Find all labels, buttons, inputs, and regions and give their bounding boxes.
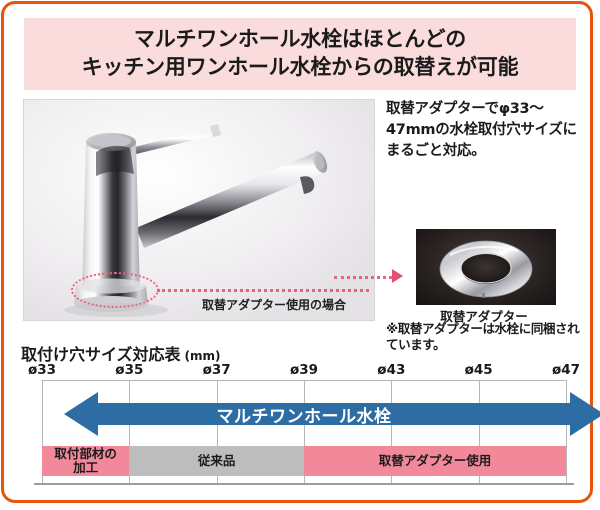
chart-segment-label: 従来品 [198,454,236,468]
adapter-arrow-dots [334,276,392,279]
chart-tick-label-33: ø33 [28,362,56,378]
chart-tick-label-39: ø39 [290,362,318,378]
chart-segment-label: 取替アダプター使用 [379,454,492,468]
adapter-ring-photo [416,229,556,305]
adapter-description: 取替アダプターでφ33〜47mmの水栓取付穴サイズにまるごと対応。 [386,99,582,162]
adapter-ring-illustration [416,229,556,305]
chart-tick-label-45: ø45 [465,362,493,378]
adapter-lead-line [157,289,369,292]
chart-segment-2: 取替アダプター使用 [304,446,566,476]
adapter-highlight-ellipse [71,272,159,308]
orange-panel-frame: マルチワンホール水栓はほとんどの キッチン用ワンホール水栓からの取替えが可能 [1,1,593,503]
title-line-2: キッチン用ワンホール水栓からの取替えが可能 [82,54,519,82]
chart-tick-label-35: ø35 [115,362,143,378]
chart-segment-label: 取付部材の加工 [54,447,117,476]
chart-unit-label: (mm) [185,349,221,363]
multi-onehole-range-arrow [64,390,600,438]
hole-size-chart: ø33ø35ø37ø39ø43ø45ø47 マルチワンホール水栓 取付部材の加工… [4,362,598,502]
chart-segment-0: 取付部材の加工 [42,446,129,476]
adapter-bundled-note: ※取替アダプターは水栓に同梱されています。 [386,321,586,352]
faucet-photo: 取替アダプター使用の場合 [23,99,375,321]
title-line-1: マルチワンホール水栓はほとんどの [134,26,466,54]
faucet-photo-caption: 取替アダプター使用の場合 [202,296,346,313]
chart-axis-bottom [34,483,574,485]
chart-tick-label-47: ø47 [552,362,580,378]
adapter-arrow-head-icon [392,269,403,283]
title-banner: マルチワンホール水栓はほとんどの キッチン用ワンホール水栓からの取替えが可能 [24,18,576,90]
chart-tick-label-43: ø43 [377,362,405,378]
right-description-block: 取替アダプターでφ33〜47mmの水栓取付穴サイズにまるごと対応。 [386,99,582,162]
chart-segment-1: 従来品 [129,446,304,476]
chart-tick-label-37: ø37 [203,362,231,378]
